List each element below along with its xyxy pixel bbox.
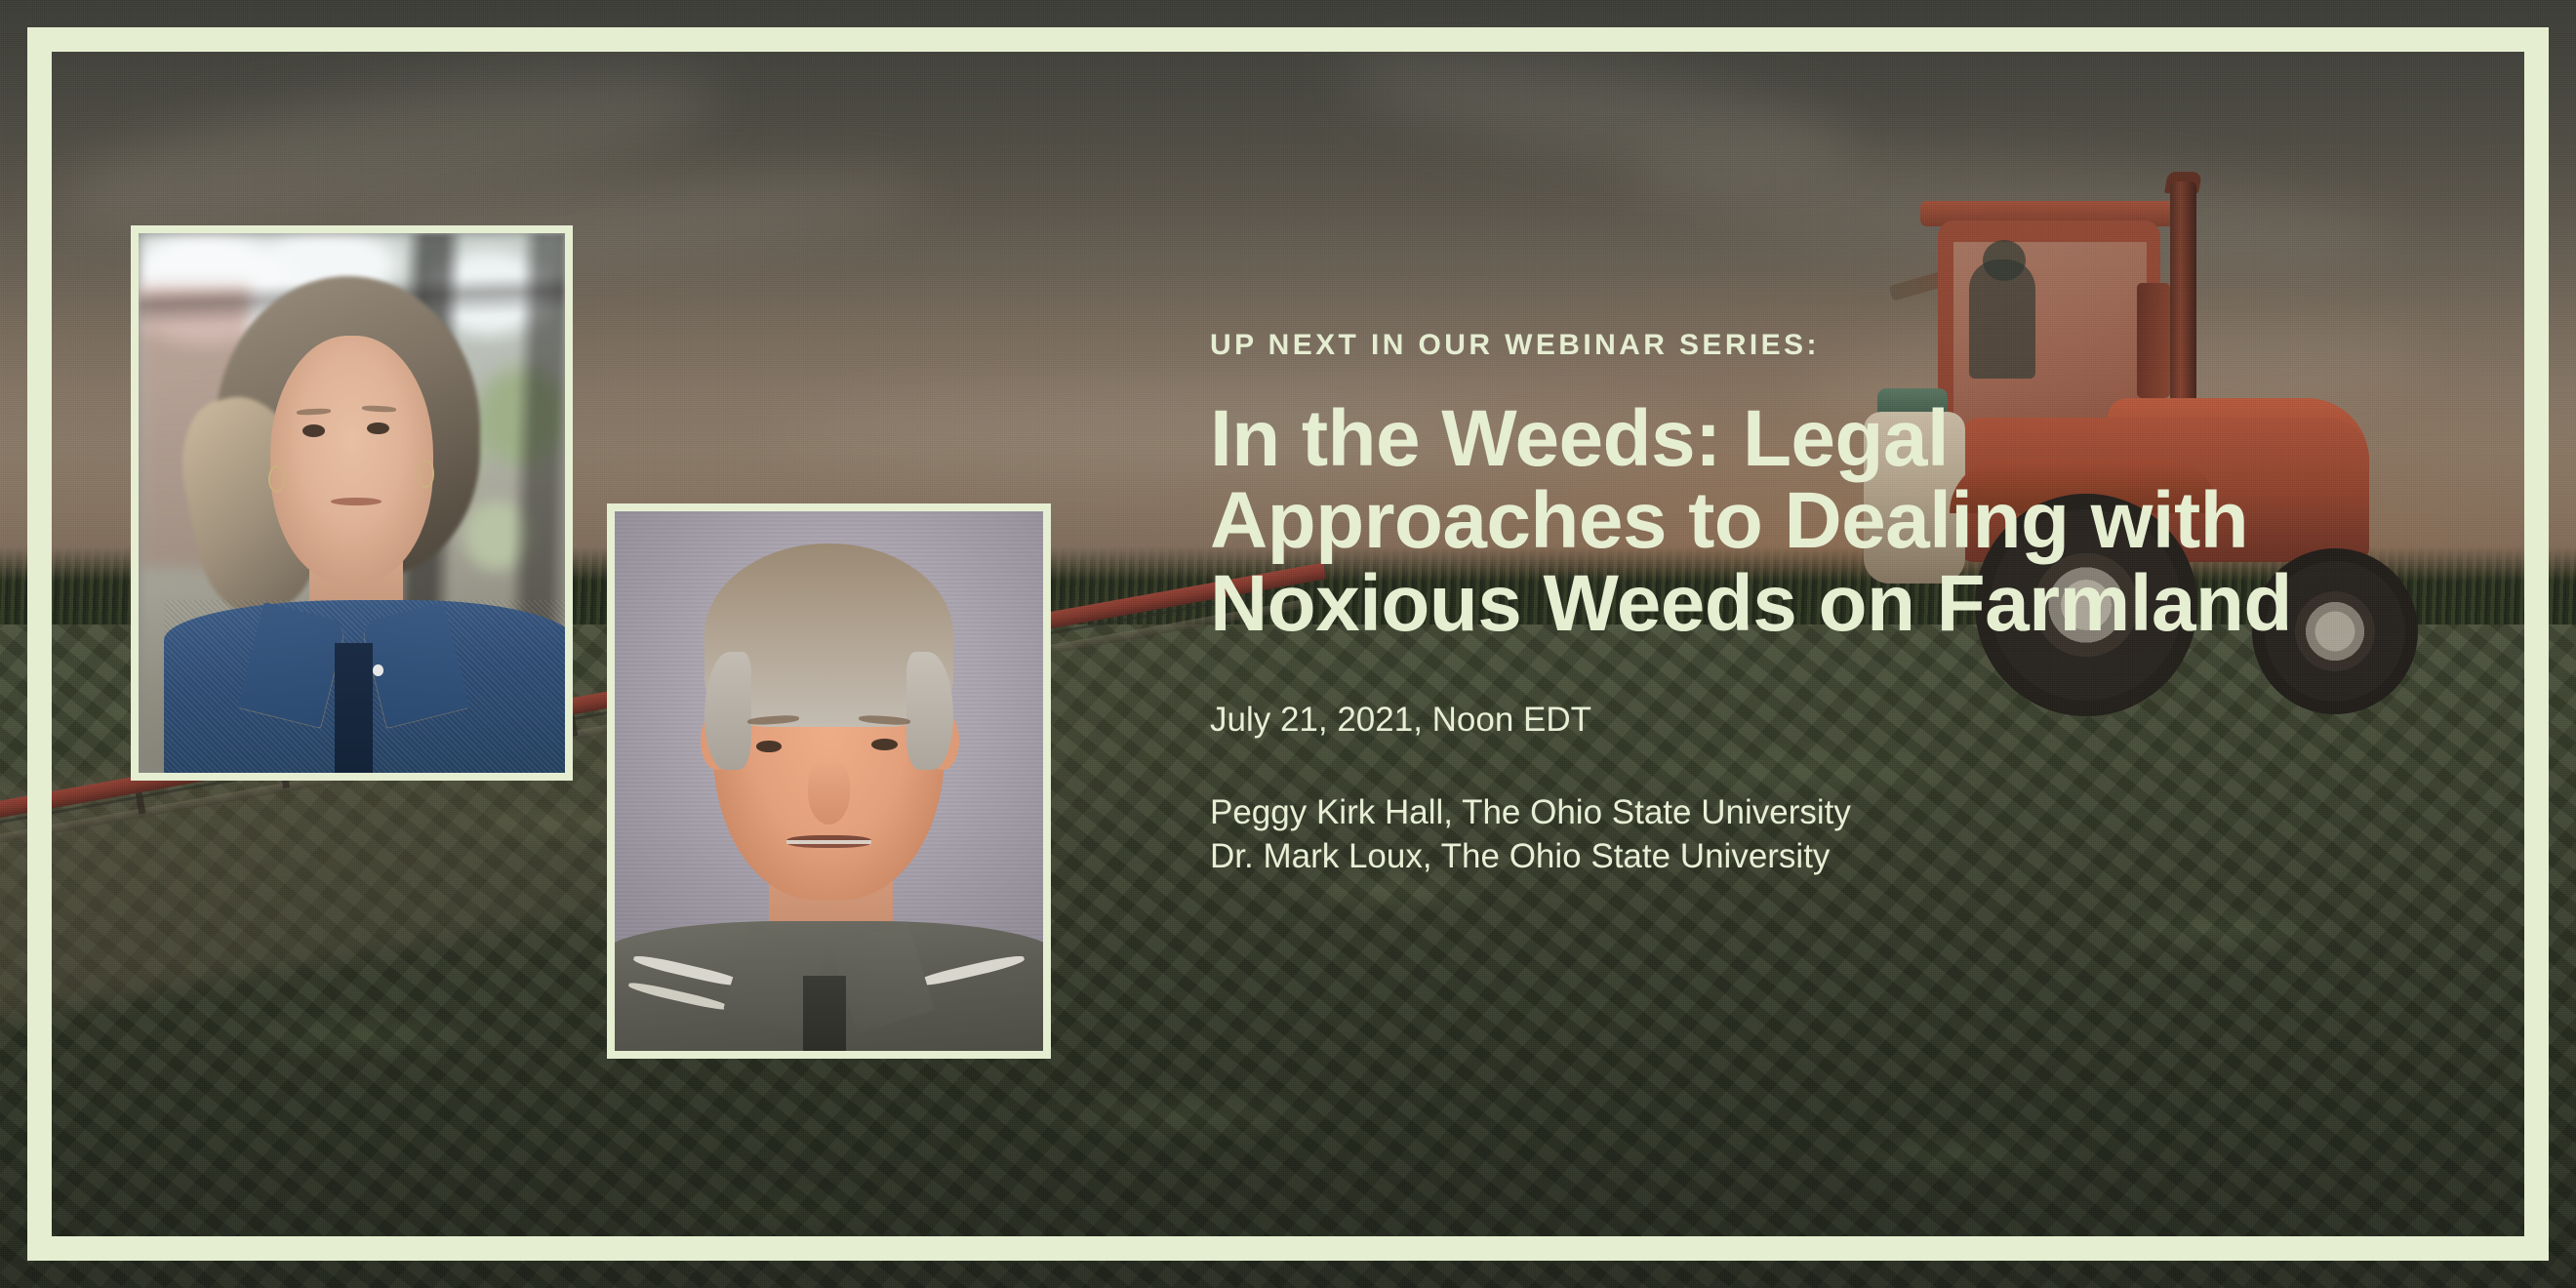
headshot-peggy-kirk-hall — [131, 225, 573, 781]
promo-text-block: UP NEXT IN OUR WEBINAR SERIES: In the We… — [1210, 328, 2439, 879]
promo-graphic-canvas: UP NEXT IN OUR WEBINAR SERIES: In the We… — [0, 0, 2576, 1288]
headshot-photo — [615, 511, 1043, 1051]
eye-right — [871, 739, 897, 750]
webinar-datetime: July 21, 2021, Noon EDT — [1210, 700, 2439, 741]
speaker-list: Peggy Kirk Hall, The Ohio State Universi… — [1210, 791, 2439, 879]
headshot-photo — [139, 233, 565, 773]
earring-right — [418, 460, 434, 487]
eye-right — [367, 423, 389, 435]
hair-side-left — [704, 652, 751, 771]
shirt-placket — [803, 976, 846, 1051]
necklace-pendant — [373, 664, 382, 676]
shirt-placket — [335, 643, 373, 773]
eye-left — [302, 424, 325, 437]
face — [270, 336, 432, 584]
eye-left — [756, 741, 782, 752]
mouth — [786, 835, 872, 848]
speaker-name-2: Dr. Mark Loux, The Ohio State University — [1210, 835, 2439, 879]
mouth — [331, 498, 382, 505]
eyebrow-label: UP NEXT IN OUR WEBINAR SERIES: — [1210, 328, 2439, 363]
webinar-title: In the Weeds: Legal Approaches to Dealin… — [1210, 398, 2410, 645]
nose — [808, 759, 851, 824]
headshot-mark-loux — [607, 503, 1051, 1059]
speaker-name-1: Peggy Kirk Hall, The Ohio State Universi… — [1210, 791, 2439, 835]
